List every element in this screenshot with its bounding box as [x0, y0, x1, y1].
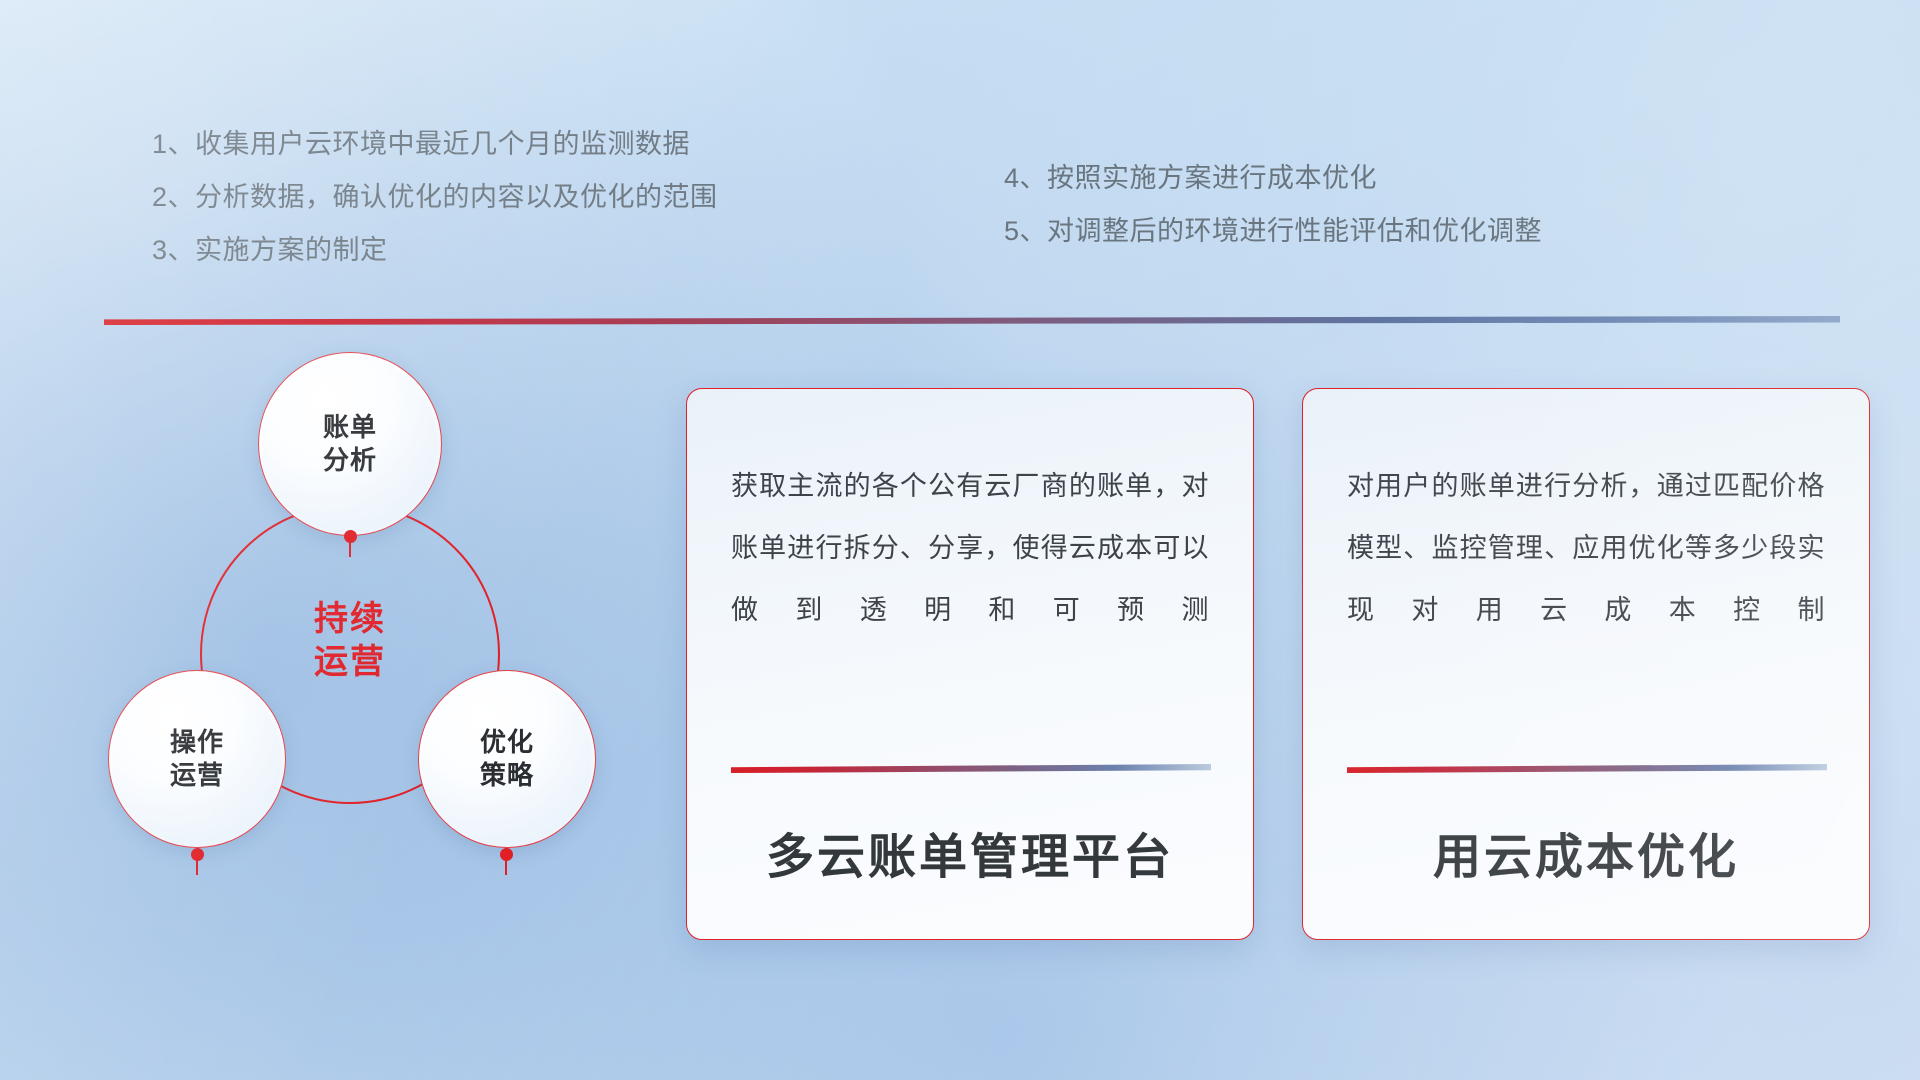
card-title: 多云账单管理平台: [687, 817, 1253, 887]
step-item-5: 5、对调整后的环境进行性能评估和优化调整: [1004, 205, 1764, 258]
diagram-center-label: 持续 运营: [250, 598, 450, 684]
bubble-label-line2: 分析: [323, 444, 377, 477]
bubble-label-line1: 优化: [480, 726, 534, 759]
step-item-4: 4、按照实施方案进行成本优化: [1004, 152, 1764, 205]
connector-stem-top: [349, 541, 351, 557]
slide-canvas: 1、收集用户云环境中最近几个月的监测数据 2、分析数据，确认优化的内容以及优化的…: [0, 0, 1920, 1080]
info-card-multicloud-billing[interactable]: 获取主流的各个公有云厂商的账单，对账单进行拆分、分享，使得云成本可以做到透明和可…: [686, 388, 1254, 940]
info-card-cloud-cost-optimization[interactable]: 对用户的账单进行分析，通过匹配价格模型、监控管理、应用优化等多少段实现对用云成本…: [1302, 388, 1870, 940]
card-body-text: 获取主流的各个公有云厂商的账单，对账单进行拆分、分享，使得云成本可以做到透明和可…: [731, 455, 1209, 641]
connector-stem-left: [196, 859, 198, 875]
connector-dot-left: [191, 848, 204, 861]
connector-dot-top: [344, 530, 357, 543]
card-title: 用云成本优化: [1303, 817, 1869, 887]
card-body-text: 对用户的账单进行分析，通过匹配价格模型、监控管理、应用优化等多少段实现对用云成本…: [1347, 455, 1825, 641]
diagram-bubble-operations[interactable]: 操作 运营: [108, 670, 286, 848]
steps-column-left: 1、收集用户云环境中最近几个月的监测数据 2、分析数据，确认优化的内容以及优化的…: [152, 118, 912, 277]
diagram-bubble-optimization-strategy[interactable]: 优化 策略: [418, 670, 596, 848]
card-gradient-divider: [731, 764, 1211, 773]
steps-column-right: 4、按照实施方案进行成本优化 5、对调整后的环境进行性能评估和优化调整: [1004, 152, 1764, 258]
connector-dot-right: [500, 848, 513, 861]
top-gradient-divider: [104, 316, 1840, 325]
bubble-label-line1: 操作: [170, 726, 224, 759]
bubble-label-line2: 运营: [170, 759, 224, 792]
card-gradient-divider: [1347, 764, 1827, 773]
diagram-bubble-bill-analysis[interactable]: 账单 分析: [258, 352, 442, 536]
center-label-line1: 持续: [250, 598, 450, 641]
bubble-label-line1: 账单: [323, 411, 377, 444]
cycle-diagram: 持续 运营 账单 分析 操作 运营 优化 策略: [100, 352, 640, 952]
bubble-label-line2: 策略: [480, 759, 534, 792]
center-label-line2: 运营: [250, 641, 450, 684]
step-item-2: 2、分析数据，确认优化的内容以及优化的范围: [152, 171, 912, 224]
step-item-3: 3、实施方案的制定: [152, 224, 912, 277]
step-item-1: 1、收集用户云环境中最近几个月的监测数据: [152, 118, 912, 171]
connector-stem-right: [505, 859, 507, 875]
